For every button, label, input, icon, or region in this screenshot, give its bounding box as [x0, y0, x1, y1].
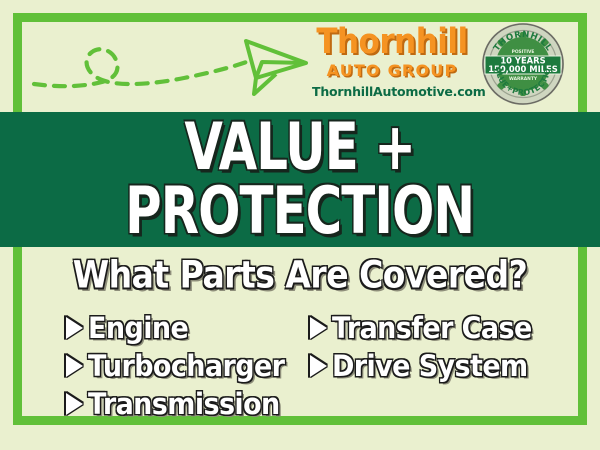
- part-label: Transfer Case: [332, 311, 532, 345]
- triangle-right-icon: [310, 355, 327, 377]
- badge-small-bottom-text: WARRANTY: [509, 76, 538, 82]
- warranty-seal-badge: THORNHILL POSITIVE 10 YEARS 150,000 MILE…: [481, 22, 565, 106]
- list-item: Turbocharger: [66, 347, 300, 385]
- badge-small-top-text: POSITIVE: [512, 49, 535, 55]
- advertisement-banner: Thornhill AUTO GROUP ThornhillAutomotive…: [0, 0, 600, 450]
- dashed-flight-path-icon: [24, 26, 314, 106]
- triangle-right-icon: [66, 317, 83, 339]
- part-label: Drive System: [332, 349, 528, 383]
- headline-section: VALUE + PROTECTION: [0, 112, 600, 247]
- headline-line-2: PROTECTION: [126, 180, 475, 243]
- logo-wordmark: Thornhill: [312, 26, 472, 59]
- logo-website: ThornhillAutomotive.com: [312, 84, 472, 99]
- part-label: Turbocharger: [88, 349, 284, 383]
- list-item: Transfer Case: [310, 309, 600, 347]
- triangle-right-icon: [66, 355, 83, 377]
- coverage-column-right: Transfer Case Drive System: [300, 309, 600, 423]
- part-label: Transmission: [88, 387, 280, 421]
- coverage-column-left: Engine Turbocharger Transmission: [0, 309, 300, 423]
- coverage-subheading: What Parts Are Covered?: [0, 253, 600, 297]
- list-item: Transmission: [66, 385, 300, 423]
- triangle-right-icon: [310, 317, 327, 339]
- part-label: Engine: [88, 311, 188, 345]
- headline-line-1: VALUE +: [185, 116, 416, 179]
- list-item: Drive System: [310, 347, 600, 385]
- coverage-columns: Engine Turbocharger Transmission Transfe…: [0, 309, 600, 423]
- logo-subtitle: AUTO GROUP: [312, 61, 472, 80]
- list-item: Engine: [66, 309, 300, 347]
- thornhill-logo: Thornhill AUTO GROUP ThornhillAutomotive…: [312, 26, 472, 99]
- triangle-right-icon: [66, 393, 83, 415]
- coverage-section: What Parts Are Covered? Engine Turbochar…: [0, 247, 600, 450]
- header-section: Thornhill AUTO GROUP ThornhillAutomotive…: [0, 0, 600, 112]
